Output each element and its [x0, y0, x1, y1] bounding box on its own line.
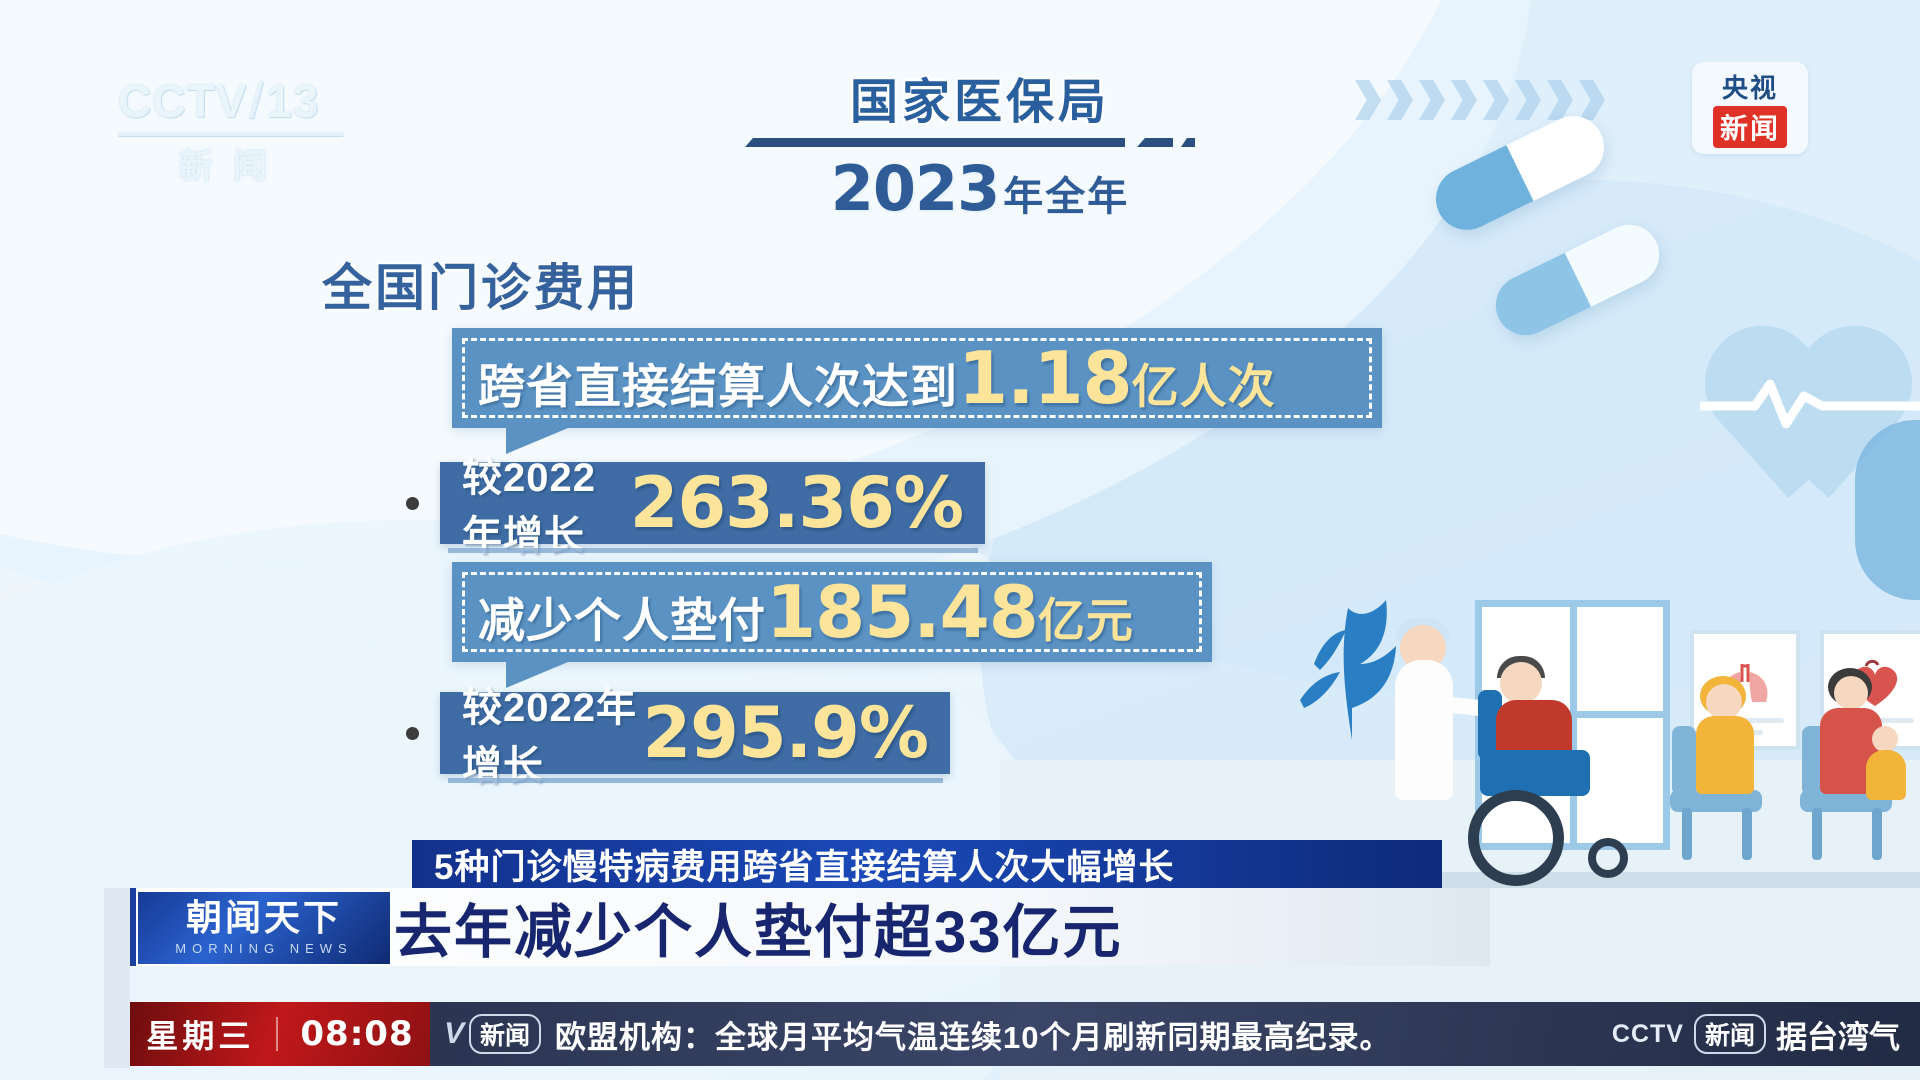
ticker-right-chip: 新闻 [1694, 1014, 1766, 1054]
broadcast-screenshot: CCTV / 13 新闻 央视 新闻 国家医保局 2023 年全年 全国门诊费用… [0, 0, 1920, 1080]
yangshi-news-watermark: 央视 新闻 [1692, 62, 1808, 154]
stat-unit: 亿人次 [1132, 348, 1276, 417]
wheelchair-illustration [1588, 838, 1628, 878]
accent-bar [130, 888, 136, 966]
leaf-icon [1290, 590, 1410, 740]
stat-underline [448, 778, 943, 783]
stat-label: 跨省直接结算人次达到 [478, 348, 958, 417]
patient-illustration [1500, 662, 1542, 704]
ticker-right-logo: CCTV 新闻 据台湾气 [1612, 1012, 1906, 1057]
ticker-body: V 新闻 欧盟机构：全球月平均气温连续10个月刷新同期最高纪录。 CCTV 新闻… [430, 1002, 1920, 1066]
wheelchair-illustration [1480, 750, 1590, 796]
program-badge: 朝闻天下 MORNING NEWS [138, 892, 390, 964]
ticker-next-headline: 据台湾气 [1776, 1012, 1900, 1057]
chevron-decoration [1355, 80, 1605, 120]
stat-unit: 亿元 [1038, 582, 1134, 651]
cctv-logo-slash: / [249, 72, 264, 130]
stat-underline [448, 548, 978, 553]
infographic-header: 国家医保局 2023 年全年 [700, 62, 1260, 225]
child-illustration [1866, 750, 1906, 800]
list-bullet [406, 727, 419, 740]
headline-text: 去年减少个人垫付超33亿元 [394, 885, 1123, 969]
page-title: 国家医保局 [700, 62, 1260, 132]
stat-unit: % [894, 462, 963, 544]
cctv-logo: CCTV / 13 新闻 [118, 72, 348, 180]
wheelchair-illustration [1468, 790, 1564, 886]
header-year-suffix: 年全年 [1003, 164, 1129, 222]
cctv-logo-underline [118, 132, 344, 136]
stat-card-growth-persons: 较2022年增长 263.36 % [440, 462, 985, 544]
ticker-divider [276, 1017, 278, 1051]
program-name-en: MORNING NEWS [175, 941, 352, 956]
stat-label: 较2022年增长 [462, 675, 642, 791]
stat-value: 185.48 [766, 570, 1038, 654]
child-illustration [1872, 726, 1898, 752]
list-bullet [406, 497, 419, 510]
ticker-time: 08:08 [300, 1014, 413, 1054]
v-logo-icon: V [440, 1017, 467, 1051]
stat-card-growth-amount: 较2022年增长 295.9 % [440, 692, 950, 774]
person-illustration [1696, 716, 1754, 794]
title-divider [745, 138, 1215, 148]
stat-card-cross-province-settlement: 跨省直接结算人次达到 1.18 亿人次 [452, 328, 1382, 428]
lower-third-side-strip [104, 888, 130, 1068]
ticker-headline: 欧盟机构：全球月平均气温连续10个月刷新同期最高纪录。 [555, 1012, 1598, 1057]
stat-label: 较2022年增长 [462, 445, 630, 561]
section-label: 全国门诊费用 [322, 248, 640, 320]
ticker-weekday: 星期三 [146, 1011, 254, 1057]
stat-value: 295.9 [642, 692, 858, 774]
watermark-bottom-text: 新闻 [1713, 106, 1787, 148]
person-illustration [1706, 684, 1742, 720]
subheadline-text: 5种门诊慢特病费用跨省直接结算人次大幅增长 [434, 839, 1174, 890]
stat-card-reduced-advance: 减少个人垫付 185.48 亿元 [452, 562, 1212, 662]
header-year-number: 2023 [831, 152, 1000, 225]
program-name: 朝闻天下 [186, 900, 342, 936]
header-year: 2023 年全年 [700, 152, 1260, 225]
stat-value: 1.18 [958, 336, 1132, 420]
background-shape [1855, 420, 1920, 600]
nurse-illustration [1395, 660, 1453, 800]
stat-value: 263.36 [630, 462, 894, 544]
cctv-logo-number: 13 [266, 74, 319, 128]
ecg-line-icon [1700, 372, 1920, 432]
ticker-badge-label: 新闻 [469, 1014, 541, 1054]
ticker-clock-block: 星期三 08:08 [130, 1002, 430, 1066]
news-ticker: 星期三 08:08 V 新闻 欧盟机构：全球月平均气温连续10个月刷新同期最高纪… [130, 1002, 1920, 1066]
ticker-news-badge: V 新闻 [444, 1014, 541, 1054]
cctv-logo-subtitle: 新闻 [118, 139, 348, 188]
watermark-top-text: 央视 [1722, 68, 1778, 105]
ticker-cctv-text: CCTV [1612, 1020, 1684, 1049]
lower-third-subheadline: 5种门诊慢特病费用跨省直接结算人次大幅增长 [412, 840, 1442, 888]
stat-label: 减少个人垫付 [478, 582, 766, 651]
person-illustration [1834, 676, 1868, 710]
cctv-logo-text: CCTV [118, 74, 247, 128]
stat-unit: % [859, 692, 928, 774]
